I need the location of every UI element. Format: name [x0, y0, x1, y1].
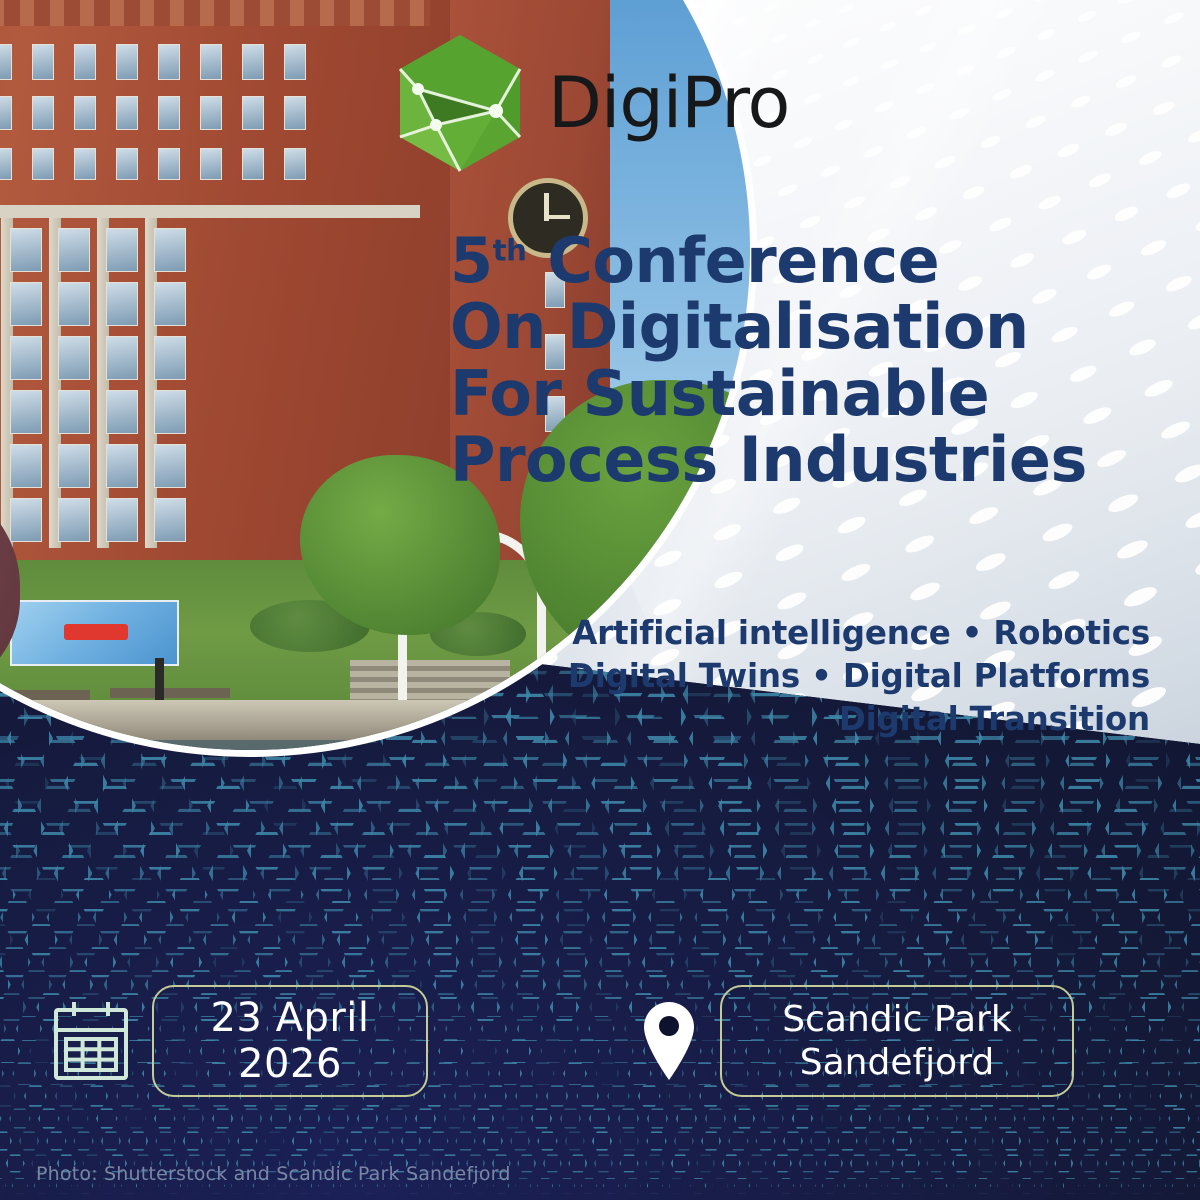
date-group: 23 April 2026 [52, 985, 428, 1097]
title-line-3: For Sustainable [450, 361, 1150, 427]
date-value: 23 April 2026 [154, 995, 426, 1087]
hexagon-network-icon [396, 33, 524, 173]
title-ordinal-suffix: th [493, 233, 527, 267]
billboard-sign [10, 600, 179, 666]
canal-water [0, 740, 750, 750]
venue-line-2: Sandefjord [782, 1041, 1011, 1084]
conference-poster: DigiPro 5th Conference On Digitalisation… [0, 0, 1200, 1200]
venue-badge[interactable]: Scandic Park Sandefjord [720, 985, 1074, 1097]
date-badge[interactable]: 23 April 2026 [152, 985, 428, 1097]
topics-line-1: Artificial intelligence • Robotics [450, 612, 1150, 655]
bench [0, 690, 90, 700]
title-ordinal: 5 [450, 224, 493, 297]
brand-logo[interactable]: DigiPro [396, 33, 789, 173]
map-pin-icon [640, 1000, 698, 1082]
lamp-post [155, 658, 164, 704]
page-title: 5th Conference On Digitalisation For Sus… [450, 228, 1150, 493]
roof-crenellation [0, 0, 430, 26]
topics-line-3: Digital Transition [450, 698, 1150, 741]
venue-group: Scandic Park Sandefjord [640, 985, 1074, 1097]
topics-list: Artificial intelligence • Robotics Digit… [450, 612, 1150, 741]
topics-line-2: Digital Twins • Digital Platforms [450, 655, 1150, 698]
title-line-1: 5th Conference [450, 228, 1150, 294]
event-details-bar: 23 April 2026 Scandic Park Sandefjord [0, 975, 1200, 1120]
calendar-icon [52, 1000, 130, 1082]
title-line-2: On Digitalisation [450, 294, 1150, 360]
title-line-4: Process Industries [450, 427, 1150, 493]
photo-credit: Photo: Shutterstock and Scandic Park San… [36, 1163, 511, 1185]
brand-name: DigiPro [548, 68, 789, 138]
venue-line-1: Scandic Park [782, 998, 1011, 1041]
bench [110, 688, 230, 698]
title-line-1-rest: Conference [526, 224, 939, 297]
